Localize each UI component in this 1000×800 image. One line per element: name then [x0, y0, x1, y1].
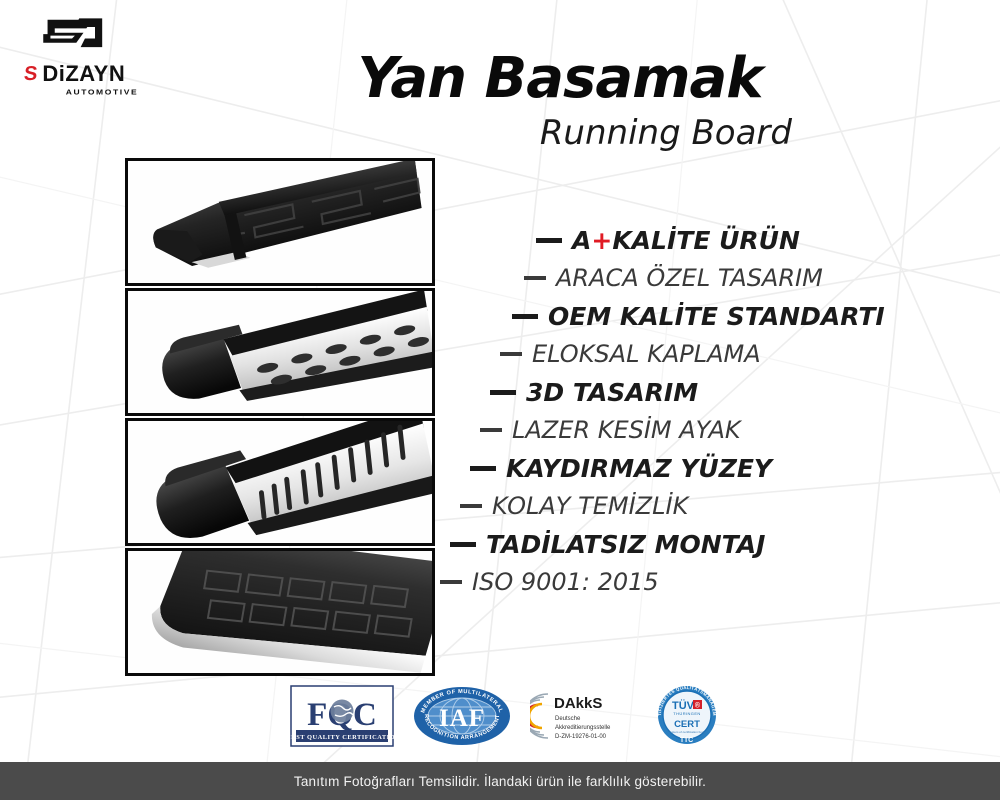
dakks-accreditation-logo-icon: DAkkS Deutsche Akkreditierungsstelle D-Z…	[530, 685, 638, 747]
svg-text:®: ®	[695, 702, 701, 710]
tuv-region: THÜRINGEN	[673, 711, 700, 716]
tuv-thuringen-cert-logo-icon: ZERTIFIZIERTES QUALITÄTSMANAGEMENT TÜV ®…	[656, 685, 720, 747]
feature-label: ARACA ÖZEL TASARIM	[556, 266, 823, 290]
iaf-certification-logo-icon: IAF MEMBER OF MULTILATERAL RECOGNITION A…	[412, 685, 512, 747]
page-title: Yan Basamak	[300, 50, 820, 109]
feature-label: ISO 9001: 2015	[472, 570, 659, 594]
logo-tagline: AUTOMOTIVE	[42, 88, 162, 97]
feature-item: 3D TASARIM	[490, 374, 910, 410]
product-photo-running-board-aluminium-studs[interactable]	[125, 288, 435, 416]
feature-item: KAYDIRMAZ YÜZEY	[470, 450, 910, 486]
feature-label: TADİLATSIZ MONTAJ	[486, 532, 765, 557]
tuv-cert-text: CERT	[674, 719, 700, 730]
page-subtitle: Running Board	[300, 113, 820, 153]
bullet-dash-icon	[524, 276, 546, 280]
fqc-certification-logo-icon: FQC FIRST QUALITY CERTIFICATION	[290, 685, 394, 747]
tuv-sub-text: system of certification body	[669, 730, 706, 734]
footer-disclaimer-text: Tanıtım Fotoğrafları Temsilidir. İlandak…	[294, 774, 706, 789]
product-photo-running-board-black-tread[interactable]	[125, 158, 435, 286]
feature-item: KOLAY TEMİZLİK	[460, 488, 910, 524]
bullet-dash-icon	[440, 580, 462, 584]
footer-disclaimer-bar: Tanıtım Fotoğrafları Temsilidir. İlandak…	[0, 762, 1000, 800]
feature-item: ARACA ÖZEL TASARIM	[524, 260, 910, 296]
feature-label: KOLAY TEMİZLİK	[492, 494, 688, 518]
feature-item: LAZER KESİM AYAK	[480, 412, 910, 448]
logo-s-letter: S	[23, 64, 37, 84]
product-gallery	[125, 158, 435, 678]
fqc-caption: FIRST QUALITY CERTIFICATION	[290, 734, 394, 741]
feature-label: LAZER KESİM AYAK	[512, 418, 741, 442]
feature-label: KAYDIRMAZ YÜZEY	[506, 456, 772, 481]
bullet-dash-icon	[460, 504, 482, 508]
feature-item: ELOKSAL KAPLAMA	[500, 336, 910, 372]
dakks-line-1: Deutsche	[555, 716, 581, 722]
feature-item: OEM KALİTE STANDARTI	[512, 298, 910, 334]
product-photo-running-board-rubber-chrome[interactable]	[125, 548, 435, 676]
feature-item: A+KALİTE ÜRÜN	[536, 222, 910, 258]
feature-item: ISO 9001: 2015	[440, 564, 910, 600]
tuv-ring-text: TIC	[680, 737, 694, 744]
dakks-abbr: DAkkS	[554, 695, 602, 712]
bullet-dash-icon	[500, 352, 522, 356]
feature-label-a-plus: A+KALİTE ÜRÜN	[572, 228, 800, 253]
product-photo-running-board-aluminium-slots[interactable]	[125, 418, 435, 546]
dakks-line-3: D-ZM-19276-01-00	[555, 734, 607, 740]
bullet-dash-icon	[450, 542, 476, 547]
bullet-dash-icon	[536, 238, 562, 243]
certification-logos: FQC FIRST QUALITY CERTIFICATION IAF	[290, 683, 720, 749]
bullet-dash-icon	[470, 466, 496, 471]
feature-label: OEM KALİTE STANDARTI	[548, 304, 885, 329]
dakks-line-2: Akkreditierungsstelle	[555, 725, 611, 731]
brand-logo[interactable]: S DiZAYN AUTOMOTIVE	[22, 14, 162, 97]
iaf-abbr: IAF	[439, 705, 485, 732]
title-block: Yan Basamak Running Board	[300, 50, 820, 153]
bullet-dash-icon	[512, 314, 538, 319]
feature-list: A+KALİTE ÜRÜN ARACA ÖZEL TASARIM OEM KAL…	[440, 222, 910, 602]
feature-item: TADİLATSIZ MONTAJ	[450, 526, 910, 562]
logo-brand-name: DiZAYN	[42, 63, 125, 85]
s-dizayn-logo-icon	[36, 14, 108, 60]
feature-label: ELOKSAL KAPLAMA	[532, 342, 761, 366]
feature-label: 3D TASARIM	[526, 380, 698, 405]
bullet-dash-icon	[490, 390, 516, 395]
product-banner: S DiZAYN AUTOMOTIVE Yan Basamak Running …	[0, 0, 1000, 800]
bullet-dash-icon	[480, 428, 502, 432]
